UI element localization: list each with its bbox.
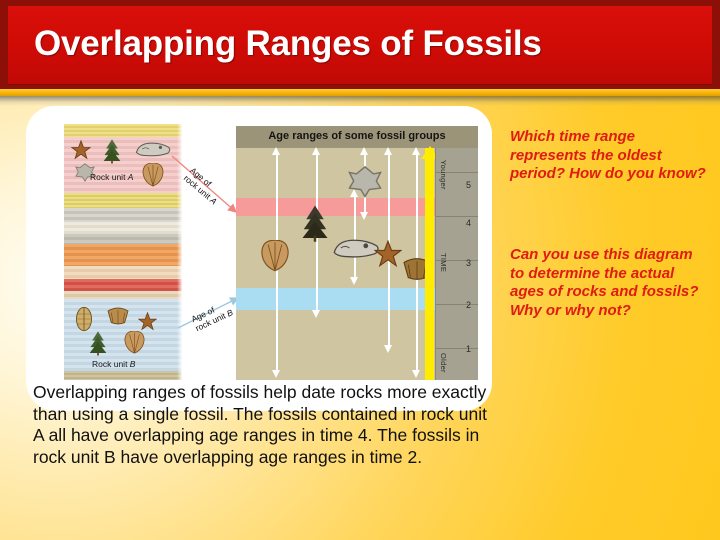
axis-tick-2: 2 [466,300,471,310]
age-ranges-chart: Age ranges of some fossil groups [236,126,478,380]
fossil-scallop-a [140,163,166,190]
range-arrowhead-up-scallop [272,147,280,155]
range-arrowhead-down-starfish [384,345,392,353]
gold-divider [0,89,720,96]
rock-layer-sand-bottom [64,371,182,380]
rock-layer-tan [64,266,182,279]
range-arrowhead-down-skull [350,277,358,285]
range-arrowhead-down-leaf [360,212,368,220]
rock-layer-red [64,279,182,291]
figure-caption: Overlapping ranges of fossils help date … [33,382,495,468]
range-arrowhead-up-leaf [360,147,368,155]
range-arrowhead-up-brachiopod [412,147,420,155]
axis-label-time: TIME [439,253,448,272]
banner-shadow [0,96,720,106]
rock-layer-tan-2 [64,291,182,299]
fossil-scallop-chart [258,240,292,277]
range-arrowhead-up-conifer [312,147,320,155]
rock-layer-sand-top [64,124,182,137]
axis-label-younger: Younger [439,160,448,190]
question-two: Can you use this diagram to determine th… [510,246,710,320]
fossil-skull-a [134,139,172,162]
rock-layer-orange [64,244,182,266]
axis-label-older: Older [439,353,448,373]
fossil-scallop-b [122,331,147,357]
fossil-starfish-a [71,140,91,163]
rock-layer-grey-2 [64,234,182,244]
fossil-conifer-a [102,138,122,167]
range-arrowhead-down-scallop [272,370,280,378]
rock-column-figure: Rock unit A Rock unit B [64,124,182,380]
axis-tick-line [436,216,478,217]
title-banner: Overlapping Ranges of Fossils [8,6,712,84]
slide-canvas: Overlapping Ranges of Fossils [0,0,720,540]
rock-layer-pale [64,222,182,234]
time-band-2-highlight [236,288,436,310]
question-one: Which time range represents the oldest p… [510,128,706,184]
fossil-conifer-b [88,330,108,359]
axis-tick-line [436,304,478,305]
axis-tick-3: 3 [466,258,471,268]
rock-unit-b-label: Rock unit B [92,359,135,369]
time-axis: 5 4 3 2 1 Younger TIME Older [435,148,478,380]
axis-tick-1: 1 [466,344,471,354]
range-arrowhead-down-conifer [312,310,320,318]
rock-layer-grey [64,208,182,222]
chart-plot-area: 5 4 3 2 1 Younger TIME Older [236,148,478,380]
time-direction-arrow [425,148,434,380]
rock-layer-sand-mid [64,193,182,208]
rock-unit-a-label: Rock unit A [90,172,133,182]
fossil-brachiopod-b [106,306,130,329]
time-band-4-highlight [236,198,436,216]
axis-tick-5: 5 [466,180,471,190]
range-arrowhead-down-brachiopod [412,370,420,378]
axis-tick-4: 4 [466,218,471,228]
fossil-leaf-chart [346,164,384,203]
range-arrowhead-up-starfish [384,147,392,155]
chart-title: Age ranges of some fossil groups [236,130,478,142]
fossil-starfish-chart [374,240,402,273]
page-title: Overlapping Ranges of Fossils [34,24,542,64]
axis-tick-line [436,348,478,349]
fossil-conifer-chart [300,204,330,247]
